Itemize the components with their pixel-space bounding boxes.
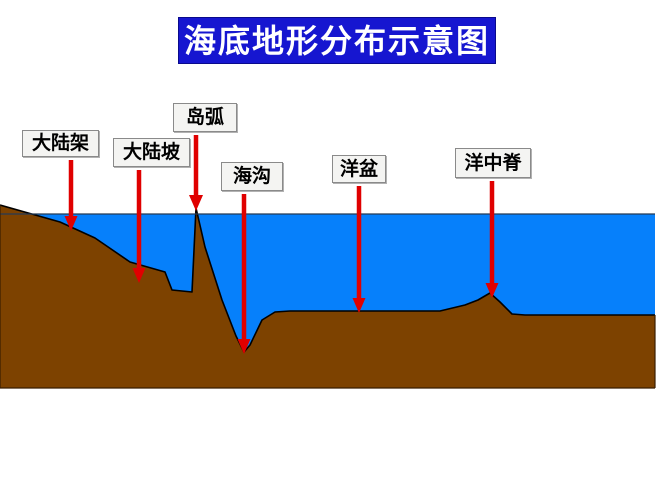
label-mid-ocean-ridge-text: 洋中脊 bbox=[464, 154, 521, 173]
label-continental-slope: 大陆坡 bbox=[113, 138, 190, 167]
label-mid-ocean-ridge: 洋中脊 bbox=[455, 148, 531, 178]
label-continental-slope-text: 大陆坡 bbox=[123, 143, 180, 162]
label-ocean-trench: 海沟 bbox=[221, 162, 283, 191]
label-continental-shelf: 大陆架 bbox=[22, 130, 99, 157]
label-island-arc: 岛弧 bbox=[173, 103, 237, 132]
label-ocean-basin-text: 洋盆 bbox=[340, 160, 378, 179]
pointer-arrow-island-arc bbox=[189, 135, 203, 211]
label-ocean-basin: 洋盆 bbox=[332, 155, 386, 183]
pointer-arrow-continental-shelf bbox=[65, 160, 78, 231]
label-island-arc-text: 岛弧 bbox=[186, 108, 224, 127]
label-ocean-trench-text: 海沟 bbox=[233, 167, 271, 186]
seafloor-topography-diagram: 海底地形分布示意图 bbox=[0, 0, 667, 500]
cross-section-illustration bbox=[0, 0, 667, 500]
label-continental-shelf-text: 大陆架 bbox=[32, 134, 89, 153]
